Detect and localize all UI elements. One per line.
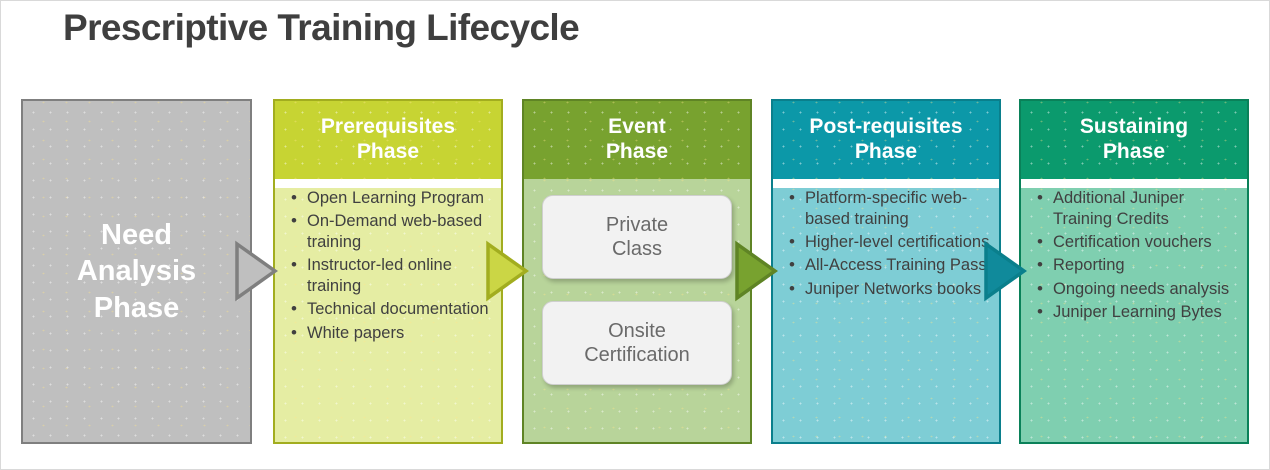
phase-header-post-requisites: Post-requisites Phase — [773, 101, 999, 179]
phase-body-prerequisites: Open Learning Program On-Demand web-base… — [275, 188, 501, 444]
bullet-list-post-requisites: Platform-specific web-based training Hig… — [773, 188, 999, 299]
phase-header-sustaining: Sustaining Phase — [1021, 101, 1247, 179]
list-item: Additional Juniper Training Credits — [1051, 188, 1239, 230]
list-item: On-Demand web-based training — [305, 211, 493, 253]
phase-header-prerequisites: Prerequisites Phase — [275, 101, 501, 179]
heading-line-2: Phase — [1080, 140, 1188, 165]
diagram-canvas: Prescriptive Training Lifecycle Need Ana… — [0, 0, 1270, 470]
phase-body-post-requisites: Platform-specific web-based training Hig… — [773, 188, 999, 444]
heading-line-2: Phase — [321, 140, 455, 165]
arrow-need-to-prerequisites-icon — [234, 240, 278, 302]
lifecycle-flow: Need Analysis Phase Prerequisites Phase — [1, 99, 1270, 447]
option-card-private-class[interactable]: Private Class — [542, 195, 732, 279]
heading-line-2: Phase — [809, 140, 962, 165]
list-item: Open Learning Program — [305, 188, 493, 209]
list-item: Certification vouchers — [1051, 232, 1239, 253]
list-item: All-Access Training Pass — [803, 255, 991, 276]
list-item: White papers — [305, 323, 493, 344]
list-item: Juniper Learning Bytes — [1051, 302, 1239, 323]
heading-line-1: Need — [77, 217, 196, 253]
arrow-event-to-post-requisites-icon — [734, 240, 778, 302]
phase-card-need-analysis[interactable]: Need Analysis Phase — [21, 99, 252, 444]
bullet-list-prerequisites: Open Learning Program On-Demand web-base… — [275, 188, 501, 343]
card-group-event: Private Class Onsite Certification — [524, 179, 750, 385]
phase-card-sustaining[interactable]: Sustaining Phase Additional Juniper Trai… — [1019, 99, 1249, 444]
phase-card-prerequisites[interactable]: Prerequisites Phase Open Learning Progra… — [273, 99, 503, 444]
heading-line-3: Phase — [77, 290, 196, 326]
list-item: Reporting — [1051, 255, 1239, 276]
heading-line-2: Analysis — [77, 253, 196, 289]
heading-line-1: Sustaining — [1080, 115, 1188, 140]
card-line-2: Class — [606, 237, 668, 261]
arrow-prerequisites-to-event-icon — [485, 240, 529, 302]
list-item: Ongoing needs analysis — [1051, 279, 1239, 300]
phase-body-event: Private Class Onsite Certification — [524, 179, 750, 444]
phase-body-sustaining: Additional Juniper Training Credits Cert… — [1021, 188, 1247, 444]
list-item: Juniper Networks books — [803, 279, 991, 300]
phase-card-post-requisites[interactable]: Post-requisites Phase Platform-specific … — [771, 99, 1001, 444]
phase-card-event[interactable]: Event Phase Private Class Onsite — [522, 99, 752, 444]
heading-line-1: Event — [606, 115, 668, 140]
list-item: Technical documentation — [305, 299, 493, 320]
card-line-1: Private — [606, 213, 668, 237]
option-card-onsite-certification[interactable]: Onsite Certification — [542, 301, 732, 385]
list-item: Platform-specific web-based training — [803, 188, 991, 230]
heading-line-1: Prerequisites — [321, 115, 455, 140]
phase-header-event: Event Phase — [524, 101, 750, 179]
card-line-2: Certification — [584, 343, 690, 367]
arrow-post-requisites-to-sustaining-icon — [983, 240, 1027, 302]
page-title: Prescriptive Training Lifecycle — [63, 7, 579, 49]
phase-heading-need-analysis: Need Analysis Phase — [77, 217, 196, 326]
card-line-1: Onsite — [584, 319, 690, 343]
list-item: Higher-level certifications — [803, 232, 991, 253]
heading-line-1: Post-requisites — [809, 115, 962, 140]
heading-line-2: Phase — [606, 140, 668, 165]
list-item: Instructor-led online training — [305, 255, 493, 297]
bullet-list-sustaining: Additional Juniper Training Credits Cert… — [1021, 188, 1247, 323]
